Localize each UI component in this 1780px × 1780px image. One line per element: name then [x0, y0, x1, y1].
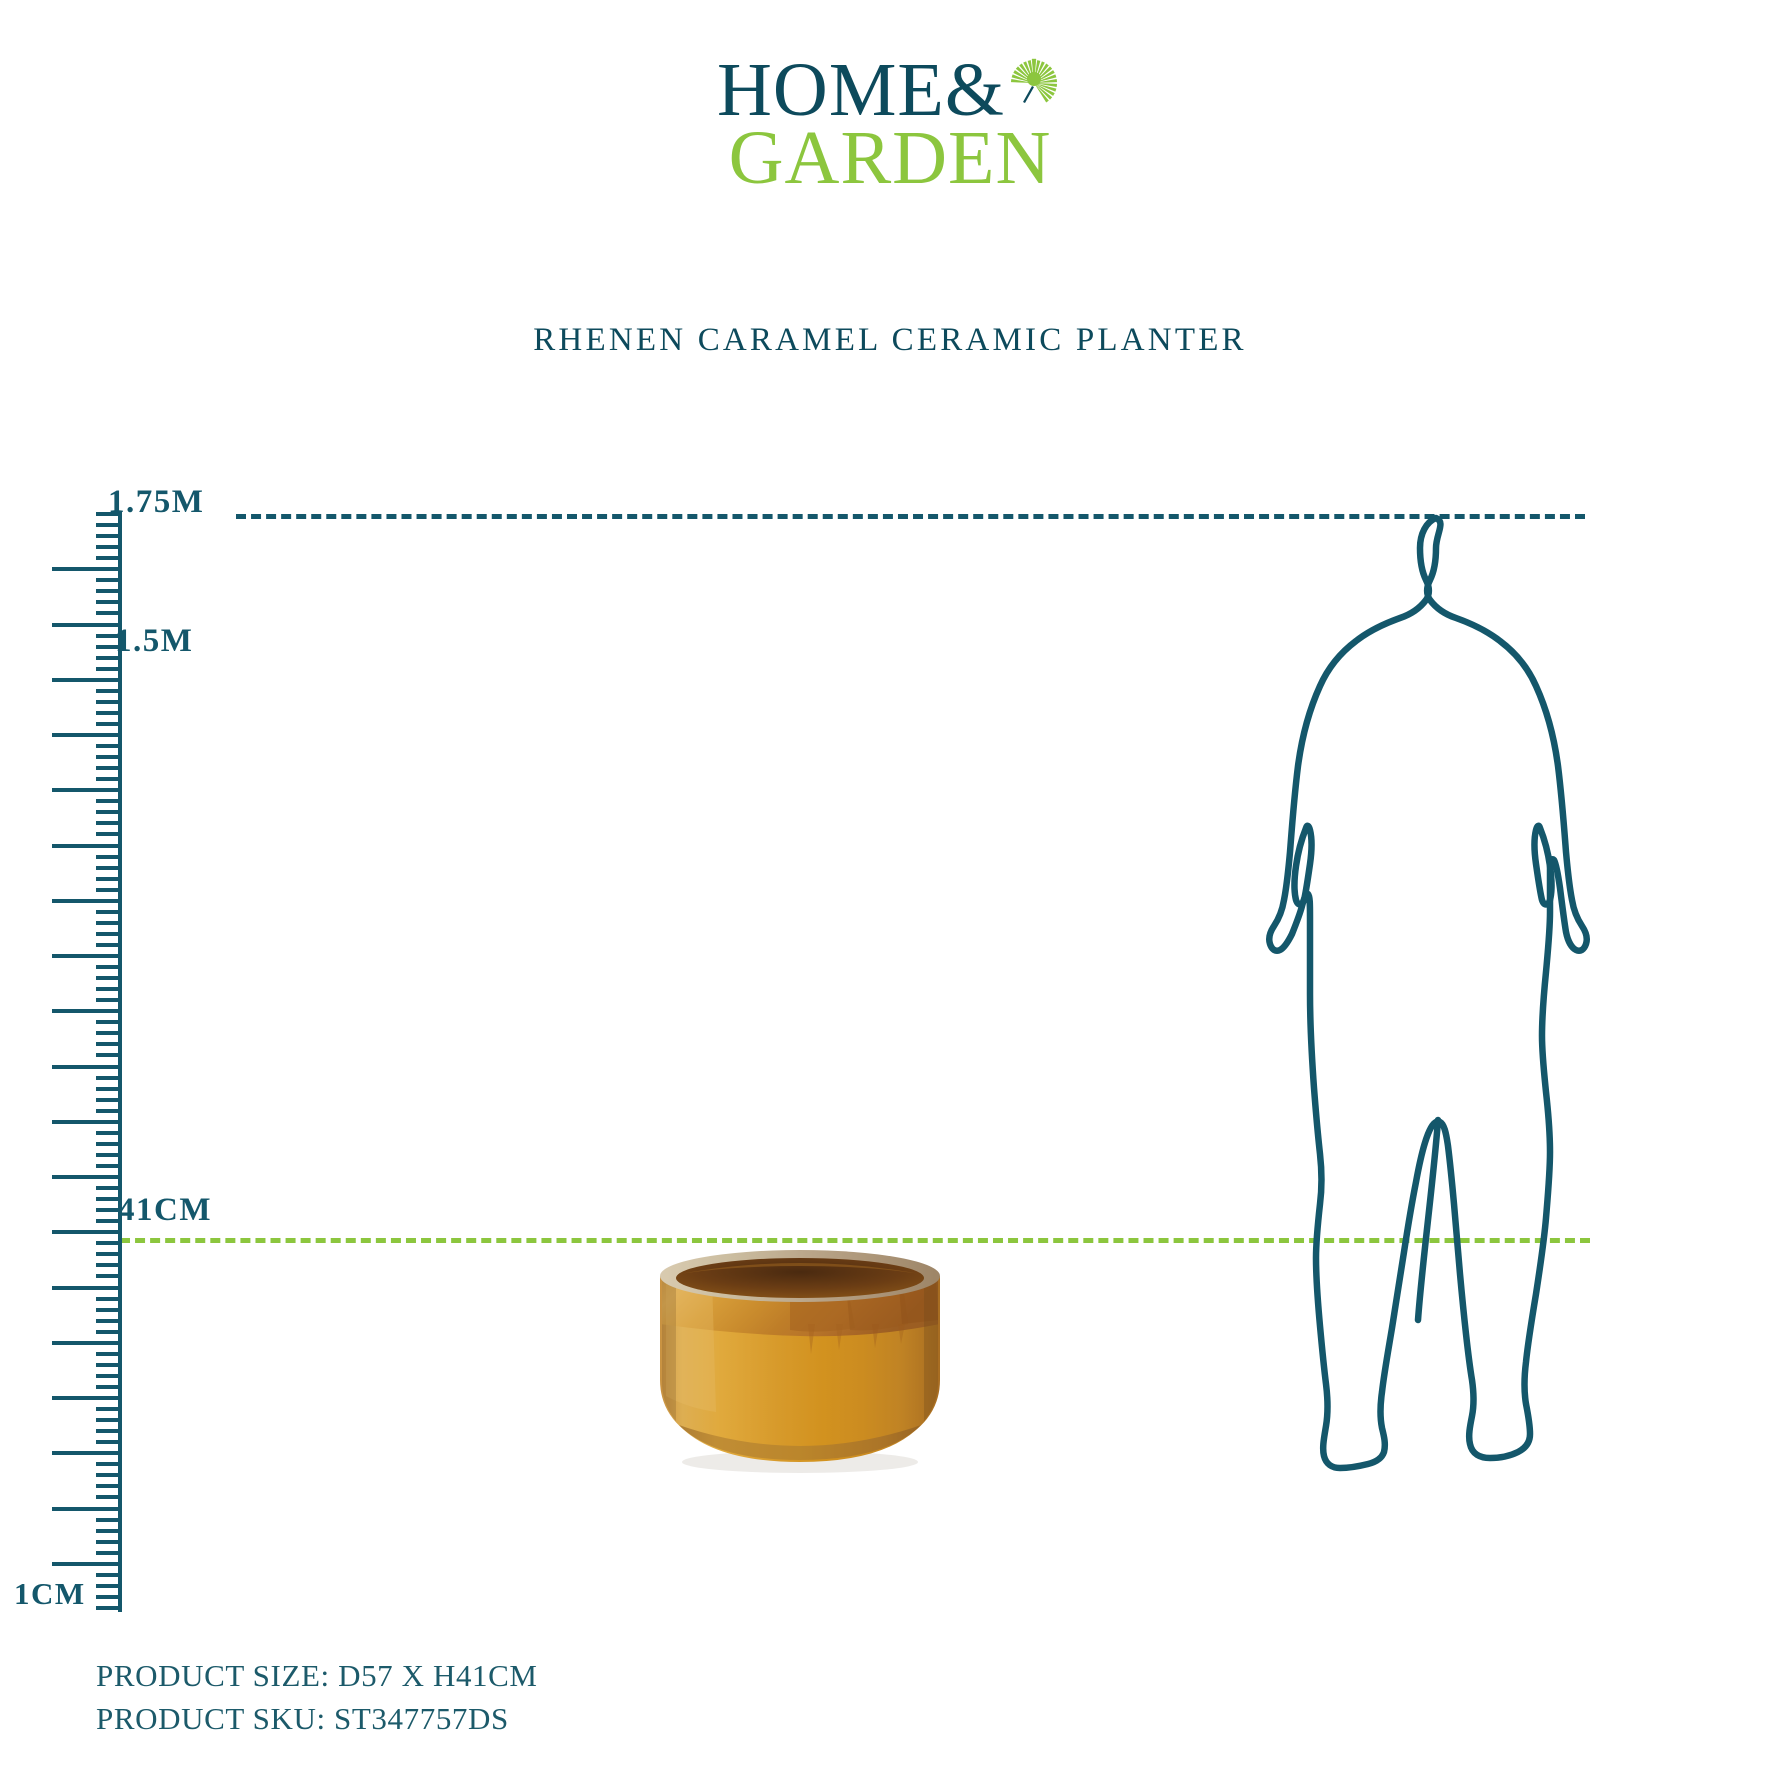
ruler-tick [96, 910, 122, 914]
ruler-tick [96, 987, 122, 991]
ruler-tick [96, 998, 122, 1002]
ruler-tick [96, 921, 122, 925]
size-guide-canvas: HOME& [0, 0, 1780, 1780]
ruler-tick-major [52, 1286, 118, 1290]
ruler-tick [96, 1540, 122, 1544]
ruler-tick [96, 1076, 122, 1080]
ruler-tick-major [52, 1009, 118, 1013]
ruler-tick [96, 1031, 122, 1035]
ruler-tick [96, 1164, 122, 1168]
ruler-tick [96, 766, 122, 770]
ruler-tick-major [52, 844, 118, 848]
ruler-tick [96, 611, 122, 615]
figure-outline [1269, 518, 1587, 1468]
ruler-tick-major [52, 623, 118, 627]
ruler-tick [96, 689, 122, 693]
product-size-text: PRODUCT SIZE: D57 X H41CM [96, 1655, 538, 1698]
ruler-tick [96, 832, 122, 836]
ruler-tick [96, 1407, 122, 1411]
ruler-tick [96, 866, 122, 870]
ruler-tick-major [52, 899, 118, 903]
ruler-tick [96, 1263, 122, 1267]
ruler-tick [96, 810, 122, 814]
ruler-tick [96, 600, 122, 604]
ruler-tick-major [52, 1396, 118, 1400]
ruler-tick [96, 744, 122, 748]
ruler-tick [96, 1440, 122, 1444]
ruler-tick [96, 855, 122, 859]
product-info-block: PRODUCT SIZE: D57 X H41CM PRODUCT SKU: S… [96, 1655, 538, 1741]
ruler-tick [96, 578, 122, 582]
ruler-tick [96, 1363, 122, 1367]
ruler-tick [96, 1484, 122, 1488]
ruler-tick-major [52, 567, 118, 571]
ruler-tick [96, 1529, 122, 1533]
ruler-tick [96, 1385, 122, 1389]
ruler-tick [96, 1418, 122, 1422]
brand-logo: HOME& [0, 52, 1780, 196]
ruler-tick [96, 777, 122, 781]
ruler-tick [96, 1595, 122, 1599]
ruler-tick [96, 667, 122, 671]
product-image-planter [640, 1232, 960, 1478]
ruler-tick [96, 1352, 122, 1356]
scale-label-41cm: 41CM [118, 1192, 212, 1229]
ruler-tick [96, 888, 122, 892]
ruler-tick [96, 1330, 122, 1334]
ruler-tick [96, 1495, 122, 1499]
product-sku-text: PRODUCT SKU: ST347757DS [96, 1698, 538, 1741]
ruler-tick-major [52, 1451, 118, 1455]
ruler-tick-major [52, 1230, 118, 1234]
ruler-tick [96, 1374, 122, 1378]
ruler-tick [96, 943, 122, 947]
ruler-tick-major [52, 1507, 118, 1511]
ruler-tick [96, 1241, 122, 1245]
ruler-tick [96, 1551, 122, 1555]
ruler-tick [96, 1153, 122, 1157]
ruler-tick-major [52, 788, 118, 792]
ruler-tick [96, 1042, 122, 1046]
ruler-tick-major [52, 1065, 118, 1069]
ruler-tick [96, 976, 122, 980]
scale-label-15m: 1.5M [115, 623, 193, 660]
ruler-tick [96, 1020, 122, 1024]
ruler-tick-major [52, 1120, 118, 1124]
ruler-tick [96, 1297, 122, 1301]
ruler-tick [96, 1087, 122, 1091]
ruler-tick [96, 1186, 122, 1190]
page-title: RHENEN CARAMEL CERAMIC PLANTER [0, 322, 1780, 359]
ruler-tick [96, 821, 122, 825]
ruler-tick [96, 1429, 122, 1433]
scale-label-175m: 1.75M [108, 484, 204, 521]
ruler-tick [96, 534, 122, 538]
ruler-tick-major [52, 1562, 118, 1566]
ruler-tick [96, 1131, 122, 1135]
measurement-ruler [88, 512, 122, 1612]
ruler-tick [96, 1142, 122, 1146]
human-scale-reference-figure [1240, 508, 1600, 1518]
ruler-tick [96, 1308, 122, 1312]
ruler-tick [96, 556, 122, 560]
figure-right-hand [1535, 826, 1552, 905]
ruler-tick [96, 1518, 122, 1522]
brand-name-garden: GARDEN [729, 120, 1052, 196]
ruler-tick [96, 877, 122, 881]
ruler-tick [96, 1098, 122, 1102]
ruler-tick [96, 711, 122, 715]
ruler-tick [96, 965, 122, 969]
palm-leaf-icon [1001, 58, 1063, 124]
ruler-tick [96, 1319, 122, 1323]
ruler-tick [96, 545, 122, 549]
ruler-tick [96, 1606, 122, 1610]
ruler-tick [96, 755, 122, 759]
ruler-tick [96, 1252, 122, 1256]
ruler-tick [96, 722, 122, 726]
ruler-tick [96, 1109, 122, 1113]
ruler-tick [96, 1462, 122, 1466]
ruler-tick [96, 1573, 122, 1577]
ruler-tick [96, 1584, 122, 1588]
ruler-tick [96, 1473, 122, 1477]
ruler-tick [96, 1274, 122, 1278]
ruler-tick-major [52, 678, 118, 682]
ruler-tick-major [52, 1341, 118, 1345]
ruler-tick-major [52, 733, 118, 737]
ruler-tick-major [52, 954, 118, 958]
ruler-tick [96, 799, 122, 803]
ruler-tick-major [52, 1175, 118, 1179]
ruler-tick [96, 700, 122, 704]
ruler-tick [96, 523, 122, 527]
ruler-tick [96, 589, 122, 593]
scale-label-1cm: 1CM [14, 1576, 86, 1612]
ruler-tick [96, 1053, 122, 1057]
ruler-tick [96, 932, 122, 936]
